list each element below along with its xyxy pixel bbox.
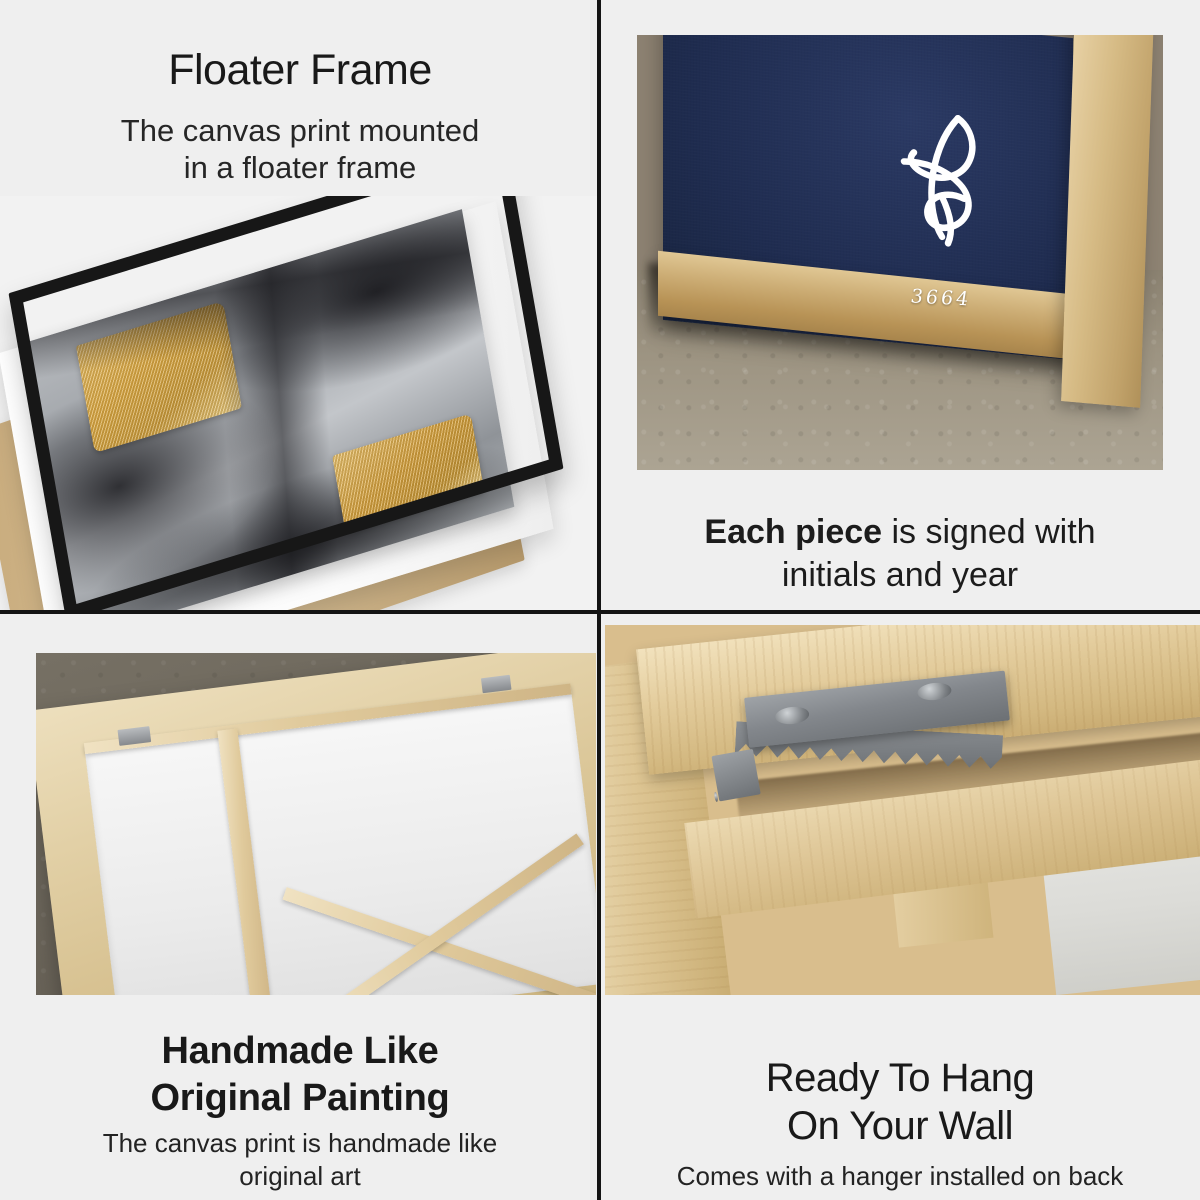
signature-photo: 3664: [637, 35, 1163, 470]
floater-frame-subtitle-line1: The canvas print mounted: [34, 112, 566, 149]
ready-to-hang-text-block: Ready To Hang On Your Wall Comes with a …: [600, 1054, 1200, 1193]
divider-vertical: [597, 0, 601, 1200]
frame-right-rail: [1062, 35, 1155, 408]
signed-piece-caption-line2: initials and year: [614, 554, 1186, 598]
screw-right-icon: [916, 681, 952, 701]
handmade-title-line1: Handmade Like: [10, 1028, 590, 1074]
handmade-text-block: Handmade Like Original Painting The canv…: [0, 1028, 600, 1192]
floater-frame-subtitle: The canvas print mounted in a floater fr…: [34, 112, 566, 186]
artist-signature-icon: [884, 99, 1004, 259]
signed-piece-caption-line1: Each piece is signed with: [614, 511, 1186, 555]
panel-handmade: Handmade Like Original Painting The canv…: [0, 612, 600, 1200]
floater-frame-title: Floater Frame: [0, 46, 600, 94]
ready-to-hang-title-line1: Ready To Hang: [608, 1054, 1192, 1102]
handmade-title-line2: Original Painting: [10, 1075, 590, 1121]
ready-to-hang-subtitle: Comes with a hanger installed on back: [608, 1160, 1192, 1193]
handmade-subtitle-line2: original art: [10, 1160, 590, 1193]
product-feature-infographic: Floater Frame The canvas print mounted i…: [0, 0, 1200, 1200]
signed-piece-caption: Each piece is signed with initials and y…: [600, 511, 1200, 598]
signed-piece-caption-rest: is signed with: [882, 513, 1096, 551]
floater-frame-subtitle-line2: in a floater frame: [34, 149, 566, 186]
ready-to-hang-title-line2: On Your Wall: [608, 1102, 1192, 1150]
screw-tab-icon: [714, 792, 719, 803]
hanger-side-tab: [712, 749, 761, 802]
handmade-subtitle: The canvas print is handmade like origin…: [10, 1127, 590, 1192]
panel-floater-frame: Floater Frame The canvas print mounted i…: [0, 0, 600, 612]
signed-piece-caption-bold: Each piece: [704, 513, 882, 551]
metal-clip-right-icon: [481, 674, 512, 692]
signature-year: 3664: [910, 286, 971, 311]
screw-left-icon: [774, 705, 810, 725]
handmade-subtitle-line1: The canvas print is handmade like: [10, 1127, 590, 1160]
exploded-frame-illustration: [0, 196, 600, 612]
floater-frame-photo: [0, 196, 600, 612]
panel-ready-to-hang: Ready To Hang On Your Wall Comes with a …: [600, 612, 1200, 1200]
divider-horizontal: [0, 610, 1200, 614]
stretcher-bar-photo: [36, 653, 596, 995]
hanger-photo: [605, 625, 1200, 995]
panel-signed-piece: 3664 Each piece is signed with initials …: [600, 0, 1200, 612]
canvas-back-assembly: [36, 653, 596, 995]
